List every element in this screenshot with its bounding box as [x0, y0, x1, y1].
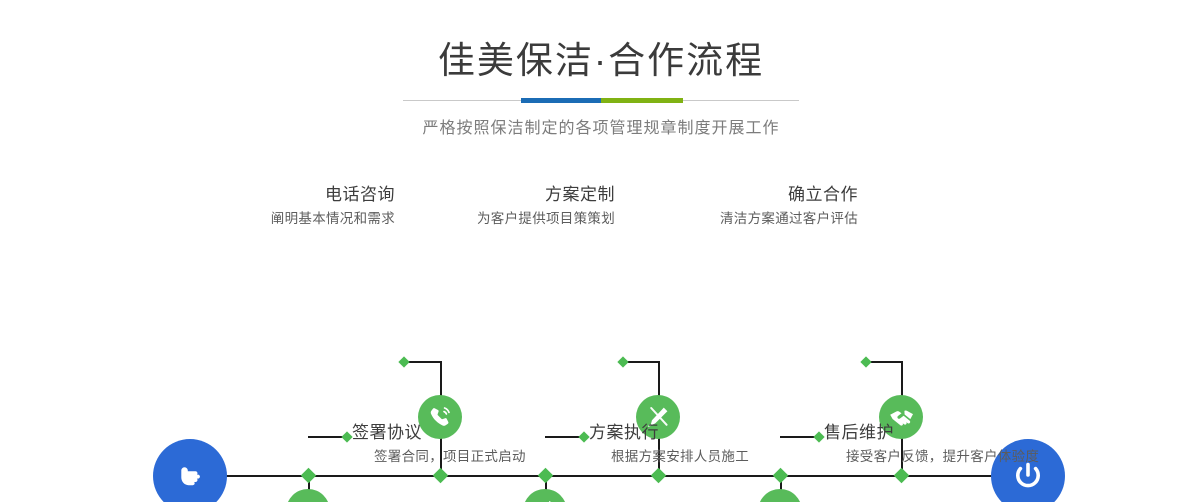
process-timeline: 电话咨询 阐明基本情况和需求 方案定制 为客户提供项目策策划 [0, 155, 1202, 502]
divider-segment-green [601, 98, 683, 103]
label-marker [860, 356, 871, 367]
pointing-hand-icon [170, 456, 210, 496]
axis-marker [538, 468, 554, 484]
play-next-icon [533, 499, 558, 502]
timeline-start-node [153, 439, 227, 502]
step-desc: 接受客户反馈，提升客户体验度 [846, 447, 1144, 466]
axis-marker [894, 468, 910, 484]
step-title: 售后维护 [824, 423, 1144, 443]
divider-segment-blue [521, 98, 601, 103]
title-divider [403, 98, 799, 103]
step-label-bottom-3: 售后维护 接受客户反馈，提升客户体验度 [824, 423, 1144, 466]
step-icon-sign [286, 489, 330, 502]
label-marker [617, 356, 628, 367]
page-subtitle: 严格按照保洁制定的各项管理规章制度开展工作 [0, 103, 1202, 138]
axis-marker [651, 468, 667, 484]
customer-support-add-icon [768, 499, 793, 502]
step-icon-aftersales [758, 489, 802, 502]
axis-marker [433, 468, 449, 484]
axis-marker [773, 468, 789, 484]
step-icon-execute [523, 489, 567, 502]
label-marker [398, 356, 409, 367]
document-sign-icon [296, 499, 321, 502]
step-title: 确立合作 [558, 185, 858, 205]
page-title: 佳美保洁·合作流程 [0, 0, 1202, 84]
step-label-top-3: 确立合作 清洁方案通过客户评估 [558, 185, 858, 228]
label-marker [341, 431, 352, 442]
header: 佳美保洁·合作流程 严格按照保洁制定的各项管理规章制度开展工作 [0, 0, 1202, 138]
axis-marker [301, 468, 317, 484]
step-desc: 清洁方案通过客户评估 [558, 209, 858, 228]
cooperation-process-infographic: 佳美保洁·合作流程 严格按照保洁制定的各项管理规章制度开展工作 [0, 0, 1202, 502]
